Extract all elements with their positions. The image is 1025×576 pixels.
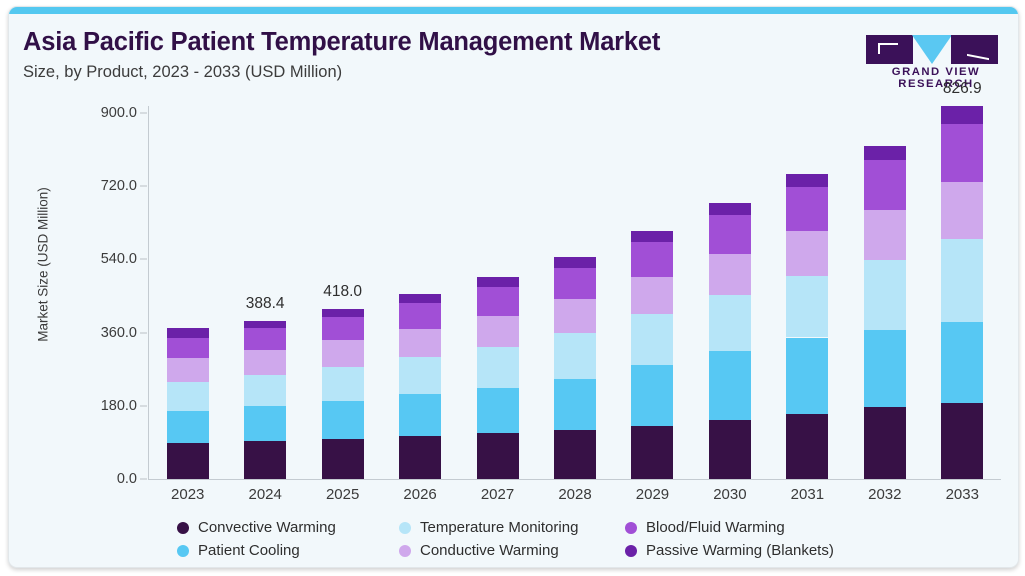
x-tick-label-2033: 2033: [922, 486, 1002, 503]
x-tick-label-2026: 2026: [380, 486, 460, 503]
bar-2028[interactable]: [554, 257, 596, 479]
y-tick-mark: [140, 479, 147, 480]
bar-segment-temperature-monitoring-2023[interactable]: [167, 382, 209, 411]
bar-segment-patient-cooling-2024[interactable]: [244, 406, 286, 441]
legend-swatch-icon: [625, 545, 637, 557]
bar-segment-convective-warming-2028[interactable]: [554, 430, 596, 479]
bar-segment-convective-warming-2030[interactable]: [709, 420, 751, 479]
bar-segment-temperature-monitoring-2033[interactable]: [941, 239, 983, 322]
y-axis-line: [148, 106, 149, 480]
bar-2033[interactable]: [941, 106, 983, 479]
bar-segment-patient-cooling-2031[interactable]: [786, 338, 828, 414]
bar-segment-blood-fluid-warming-2031[interactable]: [786, 187, 828, 231]
legend-item-patient-cooling[interactable]: Patient Cooling: [177, 542, 300, 559]
bar-segment-blood-fluid-warming-2029[interactable]: [631, 242, 673, 277]
x-tick-label-2023: 2023: [148, 486, 228, 503]
y-tick-label: 360.0: [51, 325, 137, 341]
stacked-bar-chart: Market Size (USD Million) 0.0180.0360.05…: [9, 7, 1018, 567]
x-tick-label-2028: 2028: [535, 486, 615, 503]
bar-segment-convective-warming-2023[interactable]: [167, 443, 209, 479]
y-tick-mark: [140, 332, 147, 333]
bar-segment-convective-warming-2029[interactable]: [631, 426, 673, 479]
x-tick-label-2030: 2030: [690, 486, 770, 503]
bar-segment-blood-fluid-warming-2026[interactable]: [399, 303, 441, 329]
bar-segment-convective-warming-2032[interactable]: [864, 407, 906, 479]
bar-segment-convective-warming-2024[interactable]: [244, 441, 286, 479]
x-tick-label-2029: 2029: [612, 486, 692, 503]
bar-2027[interactable]: [477, 277, 519, 479]
bar-segment-blood-fluid-warming-2027[interactable]: [477, 287, 519, 316]
bar-segment-patient-cooling-2025[interactable]: [322, 401, 364, 439]
bar-segment-convective-warming-2033[interactable]: [941, 403, 983, 479]
bar-segment-conductive-warming-2033[interactable]: [941, 182, 983, 239]
bar-segment-patient-cooling-2023[interactable]: [167, 411, 209, 443]
x-tick-label-2032: 2032: [845, 486, 925, 503]
bar-segment-blood-fluid-warming-2024[interactable]: [244, 328, 286, 350]
legend-item-convective-warming[interactable]: Convective Warming: [177, 519, 336, 536]
y-tick-label: 180.0: [51, 398, 137, 414]
bar-segment-temperature-monitoring-2030[interactable]: [709, 295, 751, 352]
x-axis-line: [148, 479, 1001, 480]
bar-segment-conductive-warming-2030[interactable]: [709, 254, 751, 295]
legend-swatch-icon: [177, 545, 189, 557]
bar-segment-patient-cooling-2033[interactable]: [941, 322, 983, 403]
x-tick-label-2027: 2027: [458, 486, 538, 503]
bar-segment-patient-cooling-2030[interactable]: [709, 351, 751, 419]
bar-segment-patient-cooling-2027[interactable]: [477, 388, 519, 434]
bar-segment-conductive-warming-2032[interactable]: [864, 210, 906, 260]
x-tick-label-2025: 2025: [303, 486, 383, 503]
bar-segment-temperature-monitoring-2025[interactable]: [322, 367, 364, 401]
bar-segment-convective-warming-2025[interactable]: [322, 439, 364, 479]
bar-segment-passive-warming-blankets-2030[interactable]: [709, 203, 751, 215]
bar-segment-passive-warming-blankets-2032[interactable]: [864, 146, 906, 161]
data-label-2033: 826.9: [912, 80, 1012, 98]
bar-segment-temperature-monitoring-2029[interactable]: [631, 314, 673, 365]
bar-segment-blood-fluid-warming-2025[interactable]: [322, 317, 364, 341]
bar-segment-passive-warming-blankets-2023[interactable]: [167, 328, 209, 338]
y-tick-mark: [140, 259, 147, 260]
x-tick-label-2024: 2024: [225, 486, 305, 503]
bar-segment-convective-warming-2026[interactable]: [399, 436, 441, 479]
bar-segment-blood-fluid-warming-2028[interactable]: [554, 268, 596, 300]
bar-2026[interactable]: [399, 294, 441, 479]
bar-segment-patient-cooling-2026[interactable]: [399, 394, 441, 436]
bar-2031[interactable]: [786, 174, 828, 479]
bar-segment-blood-fluid-warming-2033[interactable]: [941, 124, 983, 182]
bar-2029[interactable]: [631, 231, 673, 479]
bar-segment-temperature-monitoring-2028[interactable]: [554, 333, 596, 378]
bar-segment-convective-warming-2031[interactable]: [786, 414, 828, 479]
bar-2025[interactable]: [322, 309, 364, 479]
legend-swatch-icon: [399, 545, 411, 557]
legend-swatch-icon: [177, 522, 189, 534]
bar-segment-passive-warming-blankets-2033[interactable]: [941, 106, 983, 124]
bar-segment-convective-warming-2027[interactable]: [477, 433, 519, 479]
bar-2032[interactable]: [864, 146, 906, 479]
legend-item-temperature-monitoring[interactable]: Temperature Monitoring: [399, 519, 578, 536]
bar-segment-passive-warming-blankets-2026[interactable]: [399, 294, 441, 303]
legend-item-label: Passive Warming (Blankets): [646, 542, 834, 559]
bar-segment-conductive-warming-2025[interactable]: [322, 340, 364, 367]
bar-segment-blood-fluid-warming-2032[interactable]: [864, 160, 906, 210]
bar-segment-passive-warming-blankets-2028[interactable]: [554, 257, 596, 267]
bar-segment-conductive-warming-2029[interactable]: [631, 277, 673, 314]
bar-segment-patient-cooling-2028[interactable]: [554, 379, 596, 431]
bar-segment-temperature-monitoring-2032[interactable]: [864, 260, 906, 330]
bar-segment-temperature-monitoring-2024[interactable]: [244, 375, 286, 406]
legend-item-conductive-warming[interactable]: Conductive Warming: [399, 542, 559, 559]
bar-segment-temperature-monitoring-2031[interactable]: [786, 276, 828, 338]
bar-segment-patient-cooling-2029[interactable]: [631, 365, 673, 426]
y-tick-label: 0.0: [51, 471, 137, 487]
bar-segment-temperature-monitoring-2026[interactable]: [399, 357, 441, 394]
x-tick-label-2031: 2031: [767, 486, 847, 503]
chart-card: Asia Pacific Patient Temperature Managem…: [8, 6, 1019, 568]
legend-item-label: Temperature Monitoring: [420, 519, 578, 536]
bar-2023[interactable]: [167, 328, 209, 479]
y-tick-mark: [140, 186, 147, 187]
y-tick-label: 540.0: [51, 251, 137, 267]
bar-segment-conductive-warming-2031[interactable]: [786, 231, 828, 276]
legend-item-passive-warming-blankets[interactable]: Passive Warming (Blankets): [625, 542, 834, 559]
bar-segment-patient-cooling-2032[interactable]: [864, 330, 906, 407]
chart-legend: Convective WarmingPatient CoolingTempera…: [177, 519, 897, 567]
legend-swatch-icon: [625, 522, 637, 534]
legend-swatch-icon: [399, 522, 411, 534]
bar-segment-temperature-monitoring-2027[interactable]: [477, 347, 519, 388]
bar-segment-conductive-warming-2024[interactable]: [244, 350, 286, 375]
y-tick-label: 720.0: [51, 178, 137, 194]
bar-segment-blood-fluid-warming-2030[interactable]: [709, 215, 751, 254]
legend-item-label: Patient Cooling: [198, 542, 300, 559]
bar-2024[interactable]: [244, 321, 286, 479]
bar-segment-conductive-warming-2026[interactable]: [399, 329, 441, 357]
bar-segment-passive-warming-blankets-2025[interactable]: [322, 309, 364, 317]
bar-segment-conductive-warming-2028[interactable]: [554, 299, 596, 333]
legend-item-blood-fluid-warming[interactable]: Blood/Fluid Warming: [625, 519, 785, 536]
y-axis-label: Market Size (USD Million): [36, 135, 51, 395]
legend-item-label: Blood/Fluid Warming: [646, 519, 785, 536]
legend-item-label: Convective Warming: [198, 519, 336, 536]
y-tick-mark: [140, 405, 147, 406]
bar-segment-conductive-warming-2023[interactable]: [167, 358, 209, 382]
bar-segment-passive-warming-blankets-2027[interactable]: [477, 277, 519, 286]
data-label-2025: 418.0: [293, 283, 393, 301]
legend-item-label: Conductive Warming: [420, 542, 559, 559]
bar-segment-passive-warming-blankets-2031[interactable]: [786, 174, 828, 187]
bar-segment-blood-fluid-warming-2023[interactable]: [167, 338, 209, 358]
bar-segment-passive-warming-blankets-2024[interactable]: [244, 321, 286, 328]
bar-segment-passive-warming-blankets-2029[interactable]: [631, 231, 673, 242]
bar-segment-conductive-warming-2027[interactable]: [477, 316, 519, 347]
bar-2030[interactable]: [709, 203, 751, 479]
y-tick-mark: [140, 113, 147, 114]
y-tick-label: 900.0: [51, 105, 137, 121]
